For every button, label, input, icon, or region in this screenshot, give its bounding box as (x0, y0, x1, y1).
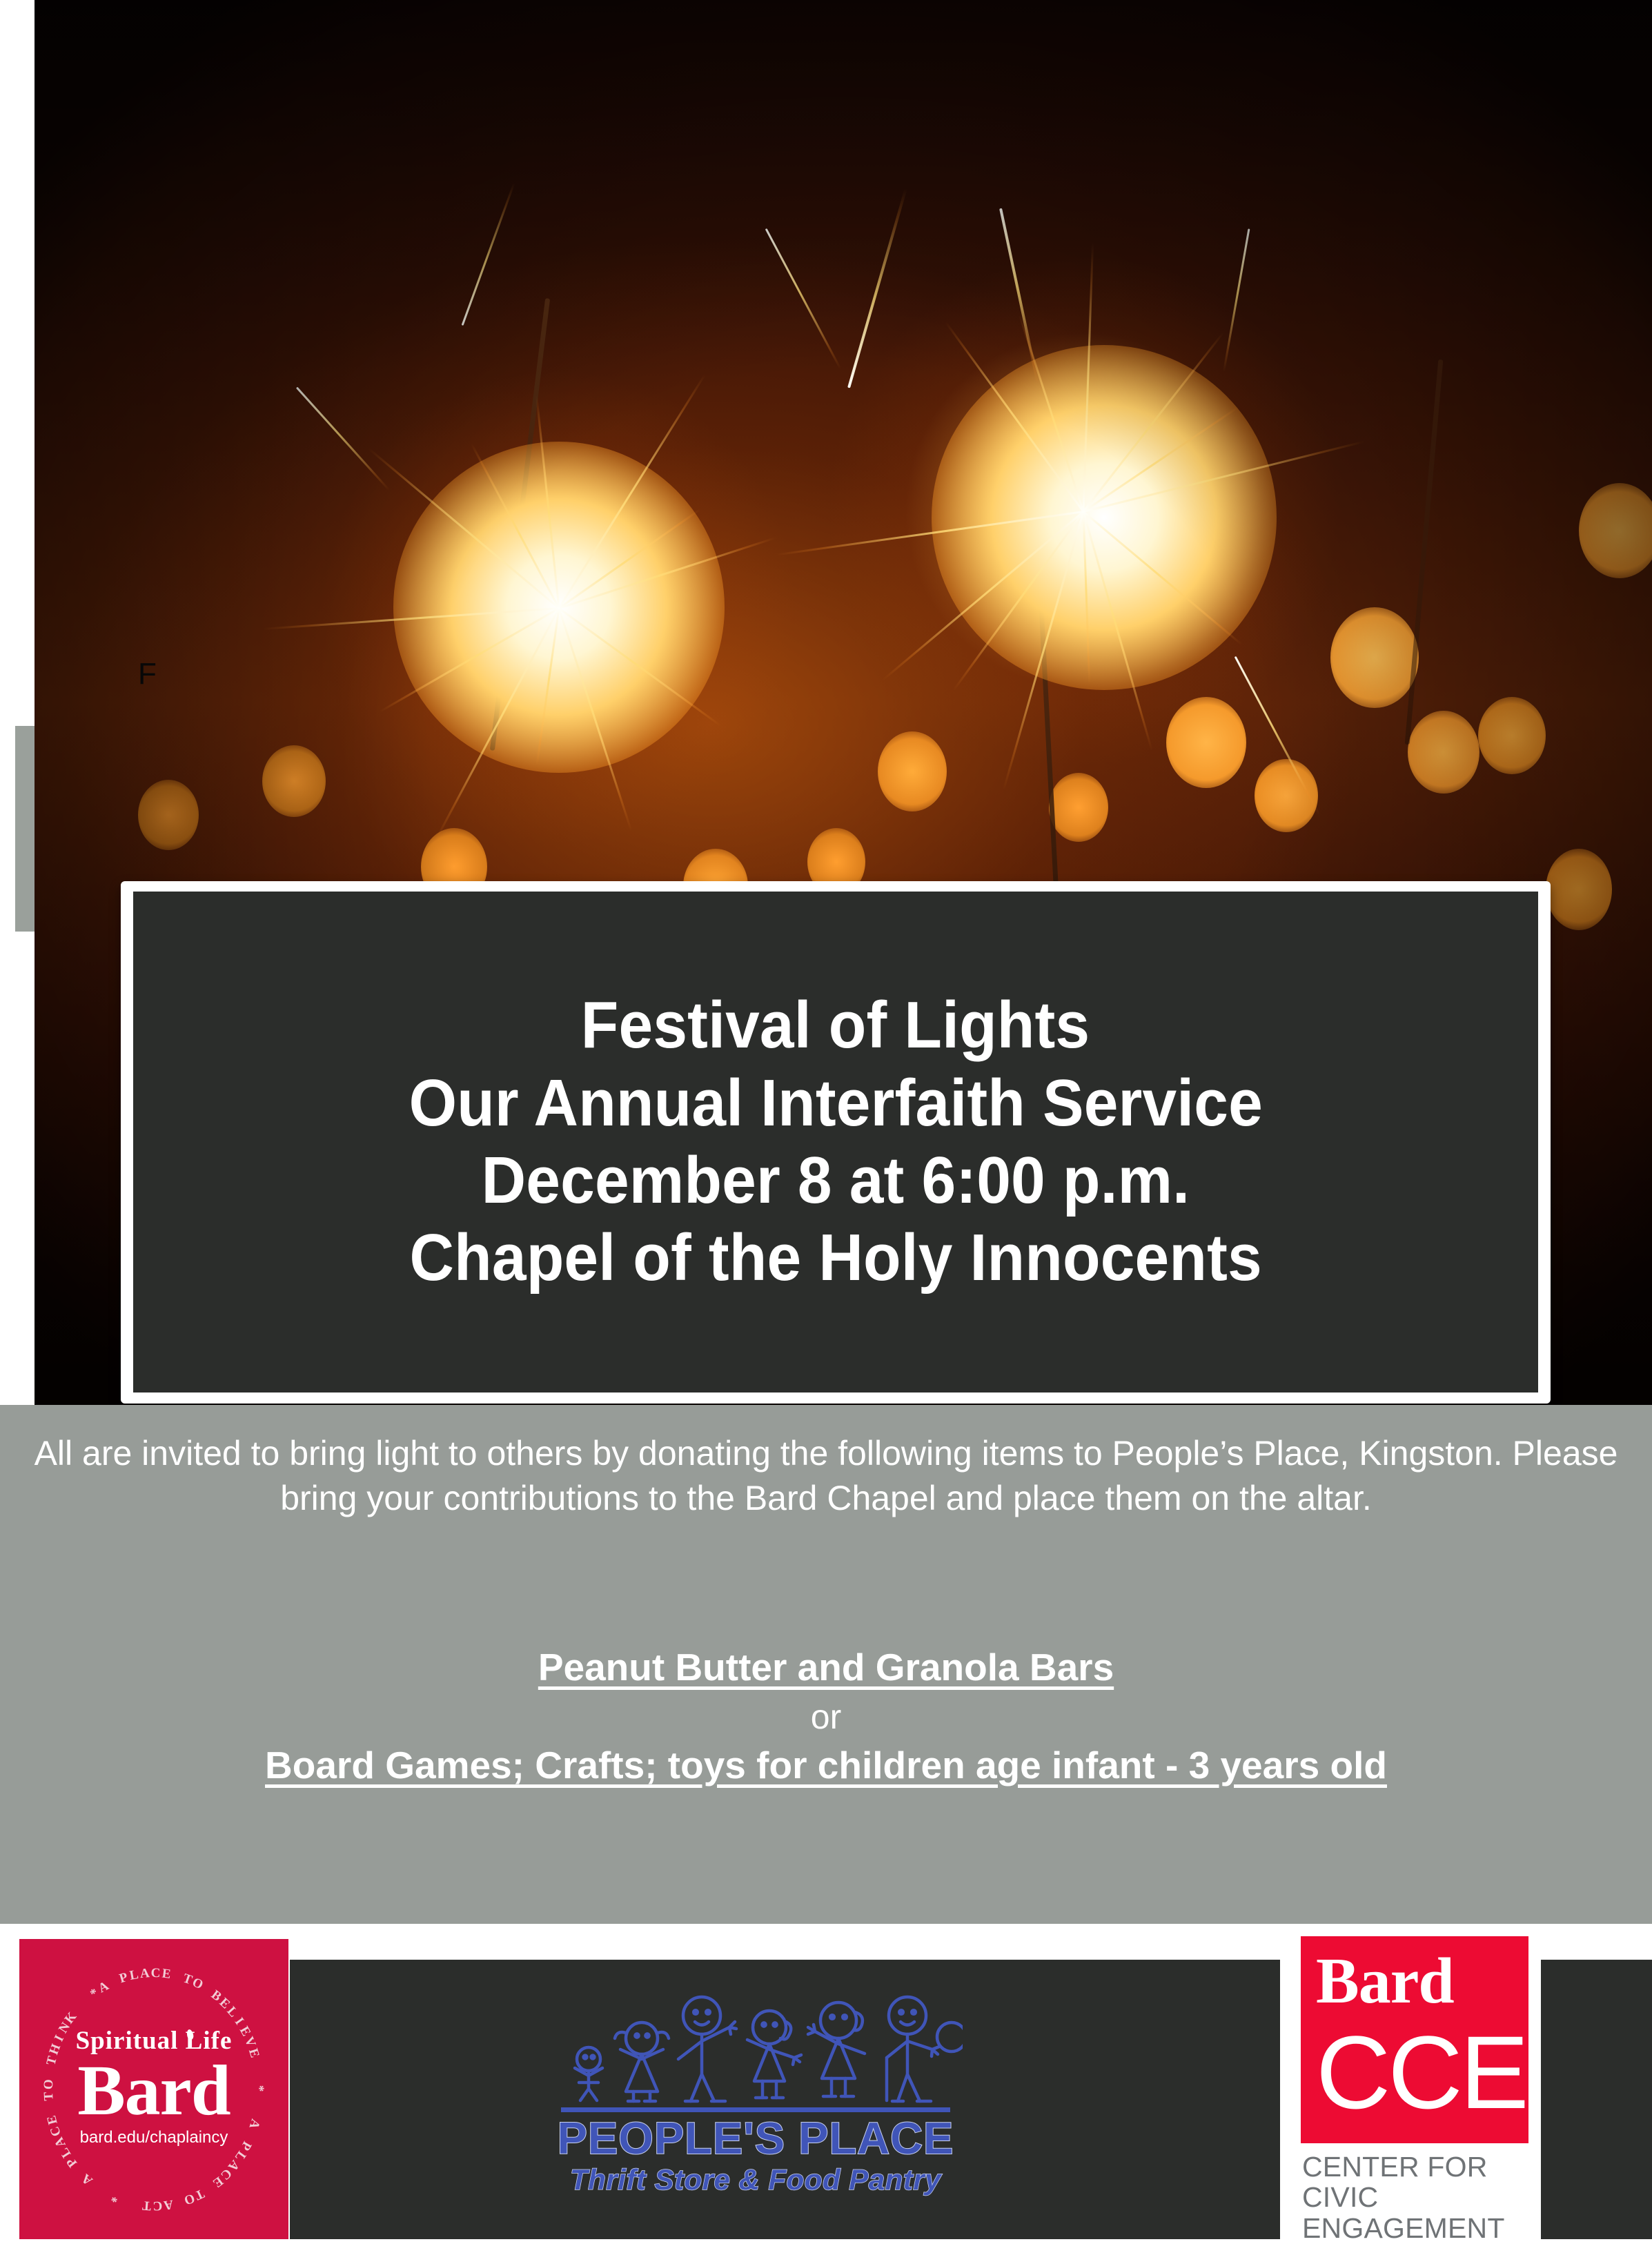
sparkler-burst-left (393, 442, 725, 773)
spark-ray (559, 537, 776, 609)
spark-ray (558, 373, 707, 609)
spark-ray (999, 208, 1039, 384)
stick-figure-family-icon (549, 1978, 963, 2105)
invitation-paragraph: All are invited to bring light to others… (30, 1431, 1622, 1521)
donation-item-toys: Board Games; Crafts; toys for children a… (30, 1741, 1622, 1791)
spark-ray (379, 607, 559, 713)
spark-ray (847, 188, 907, 388)
spark-ray (558, 607, 721, 727)
cce-caption: CENTER FOR CIVIC ENGAGEMENT (1302, 2152, 1541, 2243)
spark-ray (765, 228, 842, 369)
cce-caption-line-2: ENGAGEMENT (1302, 2213, 1541, 2243)
bard-spiritual-life-logo: APLACETOBELIEVE*APLACETOACT*APLACETOTHIN… (19, 1939, 288, 2239)
spark-ray (263, 607, 559, 630)
spark-ray (1235, 656, 1321, 816)
bokeh-disc (1579, 483, 1652, 578)
stray-glyph-artifact: F (138, 659, 157, 689)
peoples-place-logo: PEOPLE'S PLACE Thrift Store & Food Pantr… (549, 1978, 963, 2216)
left-white-rail (0, 0, 35, 1405)
bokeh-disc (1478, 697, 1546, 774)
spark-ray (1083, 406, 1239, 512)
body-band: All are invited to bring light to others… (0, 1405, 1652, 1924)
peoples-place-tagline: Thrift Store & Food Pantry (549, 2165, 963, 2194)
event-datetime: December 8 at 6:00 p.m. (482, 1142, 1190, 1219)
left-gray-notch (15, 726, 35, 932)
spark-ray (536, 608, 560, 765)
donation-conjunction: or (30, 1693, 1622, 1741)
sparkler-stick (1405, 360, 1444, 745)
spark-ray (558, 608, 633, 831)
spark-ray (462, 182, 515, 326)
cce-abbreviation: CCE (1316, 2020, 1526, 2124)
title-plate: Festival of Lights Our Annual Interfaith… (133, 892, 1538, 1392)
spark-ray (471, 443, 560, 609)
spark-ray (1083, 511, 1091, 684)
spark-ray (368, 448, 560, 609)
seal-center: Spiritual Life Bard bard.edu/chaplaincy (19, 2026, 288, 2148)
bokeh-disc (138, 780, 199, 850)
spark-ray (558, 509, 701, 609)
event-subtitle: Our Annual Interfaith Service (409, 1065, 1262, 1142)
spark-ray (1083, 332, 1225, 513)
spark-ray (1083, 511, 1243, 645)
spark-ray (1083, 511, 1153, 751)
spark-ray (435, 608, 560, 840)
spark-ray (1083, 243, 1094, 512)
sparkler-stick (490, 298, 550, 751)
bokeh-disc (878, 731, 947, 811)
cce-red-square: Bard CCE (1301, 1936, 1528, 2143)
spark-ray (1019, 315, 1085, 512)
spark-ray (945, 322, 1084, 513)
spark-ray (535, 395, 560, 609)
donation-list: Peanut Butter and Granola Bars or Board … (30, 1643, 1622, 1790)
bokeh-disc (1408, 711, 1479, 794)
footer-logo-bar: APLACETOBELIEVE*APLACETOACT*APLACETOTHIN… (0, 1924, 1652, 2239)
spark-ray (296, 386, 390, 491)
spark-ray (1083, 440, 1365, 513)
title-frame: Festival of Lights Our Annual Interfaith… (121, 881, 1551, 1404)
peoples-place-name: PEOPLE'S PLACE (549, 2116, 963, 2161)
bard-cce-logo: Bard CCE CENTER FOR CIVIC ENGAGEMENT (1301, 1936, 1541, 2239)
footer-dark-bar-right (1541, 1960, 1652, 2239)
spark-ray (1003, 511, 1085, 791)
bokeh-disc (1255, 759, 1318, 832)
spark-ray (882, 511, 1084, 681)
donation-item-food: Peanut Butter and Granola Bars (30, 1643, 1622, 1693)
sparkler-burst-right (932, 345, 1277, 690)
bokeh-disc (262, 745, 326, 817)
bokeh-disc (1049, 773, 1108, 842)
peoples-place-rule (561, 2107, 950, 2112)
bokeh-disc (1546, 849, 1612, 930)
event-name: Festival of Lights (581, 987, 1090, 1064)
bokeh-disc (1166, 697, 1246, 788)
spark-ray (1223, 228, 1250, 371)
seal-url: bard.edu/chaplaincy (19, 2128, 288, 2147)
cce-wordmark: Bard (1316, 1949, 1454, 2014)
seal-wordmark: Bard (19, 2056, 288, 2126)
cce-caption-line-1: CENTER FOR CIVIC (1302, 2152, 1541, 2213)
event-location: Chapel of the Holy Innocents (409, 1219, 1261, 1297)
spark-ray (953, 511, 1085, 691)
spark-ray (776, 511, 1083, 556)
poster-canvas: F Festival of Lights Our Annual Interfai… (0, 0, 1652, 2239)
bokeh-disc (1330, 607, 1419, 708)
